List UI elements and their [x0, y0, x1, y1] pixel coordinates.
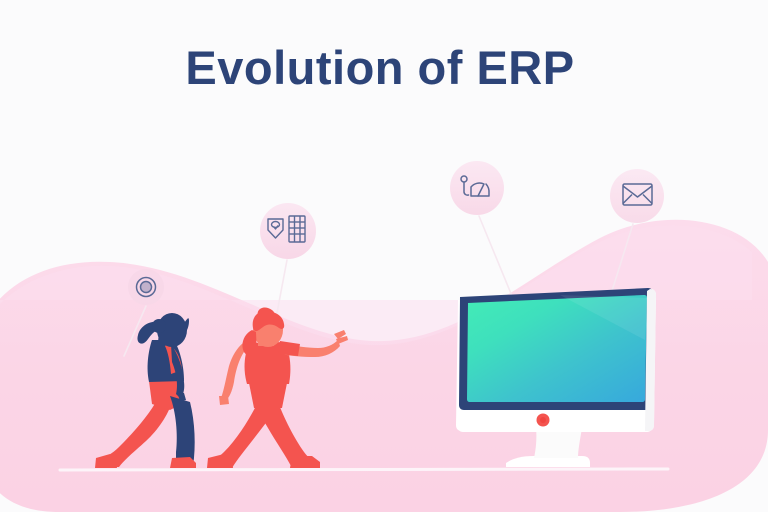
man-left-hand	[219, 396, 229, 405]
bubble-ledger[interactable]	[260, 203, 316, 259]
bubble-tools-background	[450, 161, 504, 215]
evolution-of-erp-illustration: Evolution of ERP	[0, 0, 768, 512]
monitor-stand-neck	[534, 428, 582, 458]
illustration-canvas: Evolution of ERP	[0, 0, 768, 512]
woman-hair-tie	[152, 319, 166, 333]
monitor-power-button-inner	[540, 417, 546, 423]
bubble-mail[interactable]	[610, 169, 664, 223]
bubble-disc[interactable]	[128, 269, 164, 305]
bubble-tools[interactable]	[450, 161, 504, 215]
page-title: Evolution of ERP	[185, 41, 574, 94]
ground-line	[60, 469, 668, 470]
monitor-chin	[458, 410, 653, 432]
